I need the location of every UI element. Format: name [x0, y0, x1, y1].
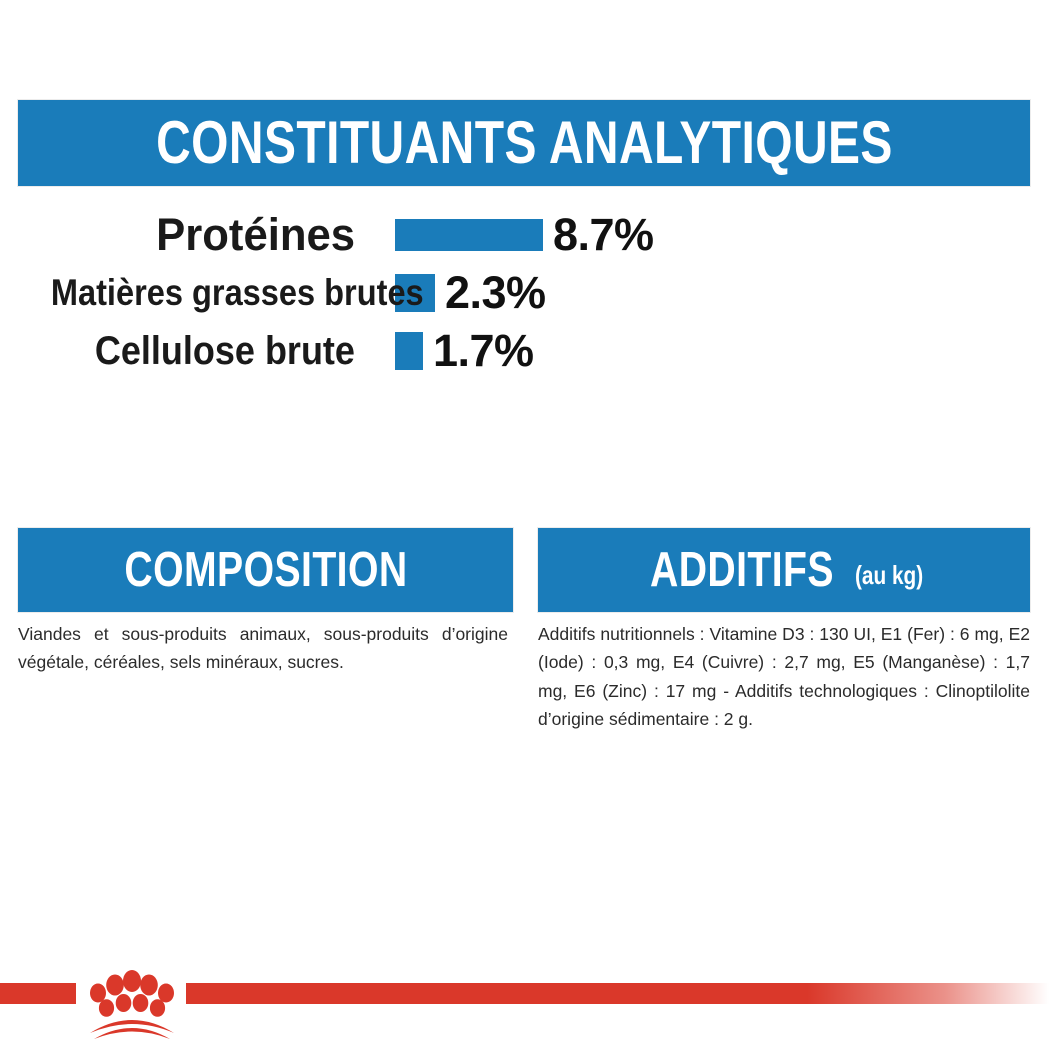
nutrient-bar	[395, 219, 543, 251]
footer	[0, 963, 1049, 1049]
nutrient-label: Cellulose brute	[0, 329, 355, 374]
nutrient-value: 1.7%	[433, 325, 534, 377]
additives-title: ADDITIFS	[650, 542, 834, 598]
nutrient-row: Protéines 8.7%	[0, 206, 1049, 264]
nutrient-row: Cellulose brute 1.7%	[0, 322, 1049, 380]
additives-banner: ADDITIFS (au kg)	[538, 528, 1030, 612]
composition-title: COMPOSITION	[124, 542, 407, 598]
footer-rule-right	[186, 983, 1049, 1004]
nutrient-value: 8.7%	[553, 209, 654, 261]
composition-text: Viandes et sous-produits animaux, sous-p…	[18, 620, 508, 677]
nutrient-bar-chart: Protéines 8.7% Matières grasses brutes 2…	[0, 206, 1049, 380]
nutrient-row: Matières grasses brutes 2.3%	[0, 264, 1049, 322]
additives-unit-label: (au kg)	[855, 560, 923, 591]
nutrient-label: Matières grasses brutes	[0, 272, 355, 314]
nutrient-bar-wrap: 1.7%	[395, 325, 534, 377]
additives-text: Additifs nutritionnels : Vitamine D3 : 1…	[538, 620, 1030, 733]
royal-canin-crown-icon	[78, 963, 186, 1043]
nutrient-bar	[395, 332, 423, 370]
nutrient-label: Protéines	[0, 209, 355, 261]
analytical-constituents-title: CONSTITUANTS ANALYTIQUES	[156, 113, 893, 173]
nutrient-value: 2.3%	[445, 267, 546, 319]
footer-rule-left	[0, 983, 76, 1004]
composition-banner: COMPOSITION	[18, 528, 513, 612]
analytical-constituents-banner: CONSTITUANTS ANALYTIQUES	[18, 100, 1030, 186]
nutrient-bar-wrap: 8.7%	[395, 209, 654, 261]
